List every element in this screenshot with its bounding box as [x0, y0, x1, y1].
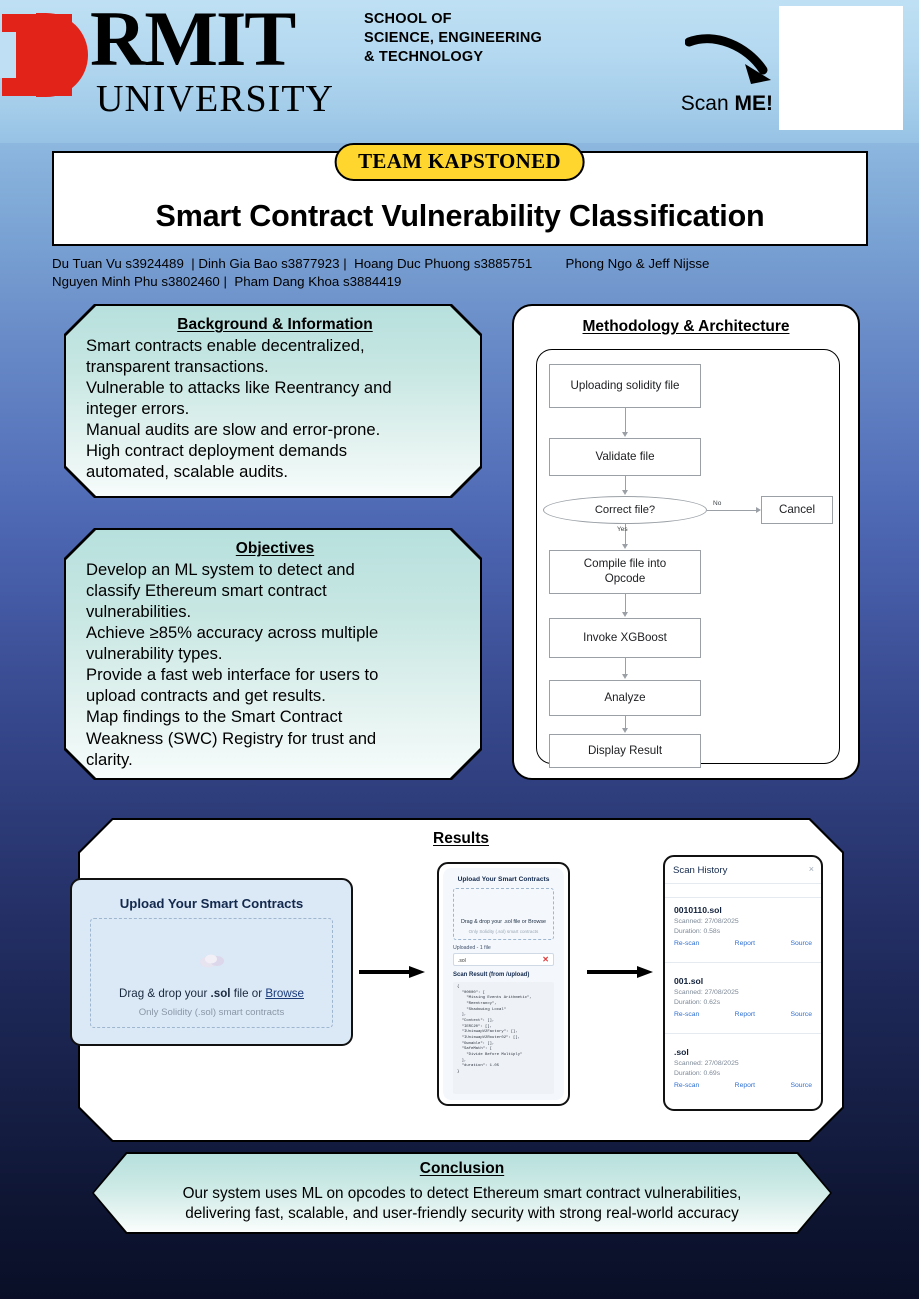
source-link[interactable]: Source — [790, 1082, 812, 1089]
browse-link[interactable]: Browse — [265, 987, 304, 1000]
flow-arrow-4 — [622, 612, 628, 617]
flow-edge-1 — [625, 408, 626, 434]
uploaded-files-label: Uploaded - 1 file — [453, 945, 491, 951]
flow-label-no: No — [713, 500, 721, 507]
dropzone-instruction: Drag & drop your .sol file or Browse — [91, 987, 332, 1000]
scan-result-screenshot: Upload Your Smart Contracts Drag & drop … — [437, 862, 570, 1106]
history-scanned-date: Scanned: 27/08/2025 — [674, 988, 812, 998]
history-duration: Duration: 0.58s — [674, 927, 812, 937]
flow-label-yes: Yes — [617, 526, 628, 533]
upload-card-screenshot: Upload Your Smart Contracts Drag & drop … — [70, 878, 353, 1046]
flow-node-validate: Validate file — [549, 438, 701, 476]
result-dropzone-instruction: Drag & drop your .sol file or Browse — [454, 919, 553, 925]
divider — [665, 897, 821, 898]
flow-arrow-5 — [622, 674, 628, 679]
results-heading: Results — [80, 830, 842, 848]
flow-decision-correct-file: Correct file? — [543, 496, 707, 524]
scan-history-screenshot: Scan History × 0010110.solScanned: 27/08… — [663, 855, 823, 1111]
flow-arrow-2 — [622, 490, 628, 495]
background-panel-content: Background & Information Smart contracts… — [72, 312, 474, 482]
flow-node-display: Display Result — [549, 734, 701, 768]
flow-arrow-1 — [622, 432, 628, 437]
scan-history-item[interactable]: 001.solScanned: 27/08/2025Duration: 0.62… — [665, 970, 821, 1025]
rescan-link[interactable]: Re-scan — [674, 940, 699, 947]
source-link[interactable]: Source — [790, 940, 812, 947]
poster-header: RMIT UNIVERSITY SCHOOL OF SCIENCE, ENGIN… — [0, 0, 919, 143]
history-file-name: 001.sol — [674, 976, 812, 986]
history-file-name: 0010110.sol — [674, 905, 812, 915]
arrow-right-icon-2 — [587, 965, 655, 979]
scan-me-group: Scan ME! — [658, 4, 903, 134]
scan-result-json: { "00000": [ "Missing Events Arithmetic"… — [453, 982, 554, 1094]
rmit-mark-icon — [2, 14, 72, 96]
scan-result-title: Scan Result (from /upload) — [453, 972, 529, 978]
report-link[interactable]: Report — [735, 940, 755, 947]
conclusion-heading: Conclusion — [94, 1160, 830, 1178]
flow-arrow-3 — [622, 544, 628, 549]
dropzone[interactable]: Drag & drop your .sol file or Browse Onl… — [90, 918, 333, 1028]
school-name: SCHOOL OF SCIENCE, ENGINEERING & TECHNOL… — [364, 10, 542, 67]
flowchart-frame: Uploading solidity file Validate file Co… — [536, 349, 840, 764]
team-badge: TEAM KAPSTONED — [334, 143, 585, 181]
source-link[interactable]: Source — [790, 1011, 812, 1018]
background-text: Smart contracts enable decentralized, tr… — [86, 335, 464, 482]
history-scanned-date: Scanned: 27/08/2025 — [674, 917, 812, 927]
rmit-wordmark: RMIT — [90, 0, 294, 78]
flow-node-upload: Uploading solidity file — [549, 364, 701, 408]
divider — [665, 1033, 821, 1034]
objectives-panel-content: Objectives Develop an ML system to detec… — [72, 536, 474, 770]
rescan-link[interactable]: Re-scan — [674, 1082, 699, 1089]
background-heading: Background & Information — [86, 316, 464, 334]
history-duration: Duration: 0.62s — [674, 998, 812, 1008]
report-link[interactable]: Report — [735, 1011, 755, 1018]
objectives-text: Develop an ML system to detect and class… — [86, 559, 464, 770]
close-icon[interactable]: × — [809, 864, 814, 874]
scan-me-label: Scan ME! — [681, 92, 773, 116]
arrow-right-icon-1 — [359, 965, 427, 979]
flow-edge-no-2 — [733, 510, 757, 511]
qr-code-icon[interactable] — [779, 6, 903, 130]
history-scanned-date: Scanned: 27/08/2025 — [674, 1059, 812, 1069]
rmit-logo: RMIT UNIVERSITY — [0, 6, 360, 131]
flow-node-cancel: Cancel — [761, 496, 833, 524]
history-file-name: .sol — [674, 1047, 812, 1057]
rescan-link[interactable]: Re-scan — [674, 1011, 699, 1018]
methodology-panel: Methodology & Architecture Uploading sol… — [512, 304, 860, 780]
report-link[interactable]: Report — [735, 1082, 755, 1089]
curved-arrow-icon — [685, 34, 781, 90]
flow-arrow-6 — [622, 728, 628, 733]
dropzone-subtext: Only Solidity (.sol) smart contracts — [91, 1007, 332, 1018]
divider — [665, 962, 821, 963]
history-actions: Re-scanReportSource — [674, 940, 812, 947]
conclusion-text: Our system uses ML on opcodes to detect … — [110, 1184, 814, 1224]
history-actions: Re-scanReportSource — [674, 1011, 812, 1018]
history-actions: Re-scanReportSource — [674, 1082, 812, 1089]
history-duration: Duration: 0.69s — [674, 1069, 812, 1079]
flow-edge-4 — [625, 594, 626, 614]
scan-history-item[interactable]: .solScanned: 27/08/2025Duration: 0.69sRe… — [665, 1041, 821, 1096]
uploaded-file-row: .sol ✕ — [453, 953, 554, 966]
upload-card-title: Upload Your Smart Contracts — [72, 896, 351, 911]
result-dropzone-subtext: Only Solidity (.sol) smart contracts — [454, 929, 553, 934]
flow-node-invoke: Invoke XGBoost — [549, 618, 701, 658]
scan-history-title: Scan History — [673, 865, 727, 876]
result-dropzone[interactable]: Drag & drop your .sol file or Browse Onl… — [453, 888, 554, 940]
flow-node-compile: Compile file into Opcode — [549, 550, 701, 594]
uploaded-file-name: .sol — [458, 958, 466, 964]
page-title: Smart Contract Vulnerability Classificat… — [54, 199, 866, 234]
flow-node-analyze: Analyze — [549, 680, 701, 716]
scan-result-inner: Upload Your Smart Contracts Drag & drop … — [443, 868, 564, 1100]
remove-file-icon[interactable]: ✕ — [542, 956, 549, 964]
result-card-title: Upload Your Smart Contracts — [443, 876, 564, 883]
rmit-university-text: UNIVERSITY — [96, 80, 334, 118]
objectives-heading: Objectives — [86, 540, 464, 558]
methodology-heading: Methodology & Architecture — [514, 318, 858, 336]
cloud-upload-icon — [197, 952, 227, 968]
divider — [665, 883, 821, 884]
authors-list: Du Tuan Vu s3924489 | Dinh Gia Bao s3877… — [52, 255, 882, 291]
scan-history-item[interactable]: 0010110.solScanned: 27/08/2025Duration: … — [665, 899, 821, 954]
